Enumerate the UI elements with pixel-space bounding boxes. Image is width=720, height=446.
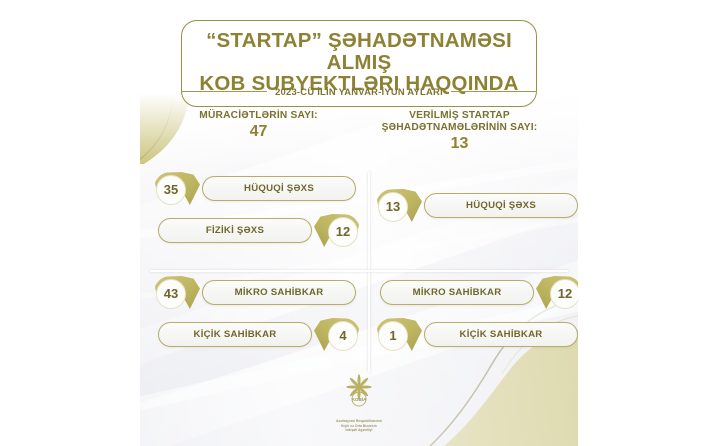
infographic-poster: “STARTAP” ŞƏHADƏTNAMƏSI ALMIŞ KOB SUBYEK… bbox=[140, 0, 578, 446]
badge-13: 13 bbox=[376, 189, 422, 222]
sunburst-icon: KOBİA bbox=[339, 372, 379, 412]
logo-caption: Azərbaycan Respublikasının Kiçik və Orta… bbox=[317, 419, 401, 433]
stat-certificates: VERİLMİŞ STARTAP ŞƏHADƏTNAMƏLƏRİNİN SAYI… bbox=[359, 110, 560, 164]
pill-text: KİÇİK SAHİBKAR bbox=[194, 329, 277, 340]
quadrant-certificates-legal-form: 13 HÜQUQİ ŞƏXS bbox=[376, 172, 578, 268]
badge-value: 4 bbox=[328, 321, 358, 351]
row-applications-micro[interactable]: 43 MİKRO SAHİBKAR bbox=[154, 276, 360, 309]
kobia-logo: KOBİA Azərbaycan Respublikasının Kiçik v… bbox=[317, 372, 401, 433]
pill-text: MİKRO SAHİBKAR bbox=[235, 287, 324, 298]
subtitle-rule-left bbox=[181, 91, 267, 92]
quadrant-certificates-enterprise-size: MİKRO SAHİBKAR 12 1 KİÇİK SAHİBKAR bbox=[376, 276, 578, 372]
quadrant-applications-enterprise-size: 43 MİKRO SAHİBKAR KİÇİK SAHİBKAR 4 bbox=[154, 276, 360, 372]
svg-text:KOBİA: KOBİA bbox=[352, 396, 367, 402]
pill-label[interactable]: MİKRO SAHİBKAR bbox=[380, 280, 534, 305]
row-certificates-legal-entity[interactable]: 13 HÜQUQİ ŞƏXS bbox=[376, 189, 578, 222]
badge-value: 12 bbox=[550, 279, 578, 309]
badge-1: 1 bbox=[376, 318, 422, 351]
stat-certificates-label-line1: VERİLMİŞ STARTAP bbox=[359, 110, 560, 122]
row-applications-small[interactable]: KİÇİK SAHİBKAR 4 bbox=[154, 318, 360, 351]
row-applications-natural-person[interactable]: FİZİKİ ŞƏXS 12 bbox=[154, 214, 360, 247]
pill-label[interactable]: HÜQUQİ ŞƏXS bbox=[202, 176, 356, 201]
grid-divider-horizontal bbox=[150, 270, 568, 272]
grid-divider-vertical bbox=[368, 172, 370, 372]
badge-value: 43 bbox=[156, 279, 186, 309]
badge-value: 35 bbox=[156, 175, 186, 205]
screenshot-canvas: “STARTAP” ŞƏHADƏTNAMƏSI ALMIŞ KOB SUBYEK… bbox=[0, 0, 720, 446]
stat-certificates-label: VERİLMİŞ STARTAP ŞƏHADƏTNAMƏLƏRİNİN SAYI… bbox=[359, 110, 560, 134]
badge-value: 1 bbox=[378, 321, 408, 351]
logo-caption-line3: İnkişafı Agəntliyi bbox=[317, 428, 401, 433]
title-line-1: “STARTAP” ŞƏHADƏTNAMƏSI ALMIŞ bbox=[192, 30, 526, 73]
stat-applications-value: 47 bbox=[158, 124, 359, 140]
pill-text: KİÇİK SAHİBKAR bbox=[460, 329, 543, 340]
stat-applications-label: MÜRACİƏTLƏRİN SAYI: bbox=[158, 110, 359, 122]
badge-4: 4 bbox=[314, 318, 360, 351]
row-certificates-micro[interactable]: MİKRO SAHİBKAR 12 bbox=[376, 276, 578, 309]
row-applications-legal-entity[interactable]: 35 HÜQUQİ ŞƏXS bbox=[154, 172, 360, 205]
row-certificates-small[interactable]: 1 KİÇİK SAHİBKAR bbox=[376, 318, 578, 351]
pill-text: HÜQUQİ ŞƏXS bbox=[466, 200, 536, 211]
pill-text: MİKRO SAHİBKAR bbox=[413, 287, 502, 298]
stat-certificates-label-line2: ŞƏHADƏTNAMƏLƏRİNİN SAYI: bbox=[359, 122, 560, 134]
pill-label[interactable]: KİÇİK SAHİBKAR bbox=[424, 322, 578, 347]
summary-stats: MÜRACİƏTLƏRİN SAYI: 47 VERİLMİŞ STARTAP … bbox=[158, 110, 560, 164]
breakdown-grid: 35 HÜQUQİ ŞƏXS FİZİKİ ŞƏXS 12 bbox=[150, 172, 568, 372]
pill-label[interactable]: FİZİKİ ŞƏXS bbox=[158, 218, 312, 243]
stat-applications: MÜRACİƏTLƏRİN SAYI: 47 bbox=[158, 110, 359, 164]
subtitle-rule-right bbox=[451, 91, 537, 92]
subtitle-row: 2023-CÜ İLİN YANVAR-İYUN AYLARI bbox=[181, 86, 537, 97]
pill-label[interactable]: HÜQUQİ ŞƏXS bbox=[424, 193, 578, 218]
badge-43: 43 bbox=[154, 276, 200, 309]
pill-text: HÜQUQİ ŞƏXS bbox=[244, 183, 314, 194]
subtitle-period: 2023-CÜ İLİN YANVAR-İYUN AYLARI bbox=[275, 86, 443, 97]
quadrant-applications-legal-form: 35 HÜQUQİ ŞƏXS FİZİKİ ŞƏXS 12 bbox=[154, 172, 360, 268]
pill-label[interactable]: MİKRO SAHİBKAR bbox=[202, 280, 356, 305]
pill-text: FİZİKİ ŞƏXS bbox=[206, 225, 264, 236]
badge-35: 35 bbox=[154, 172, 200, 205]
badge-12b: 12 bbox=[536, 276, 578, 309]
badge-value: 13 bbox=[378, 192, 408, 222]
badge-12: 12 bbox=[314, 214, 360, 247]
badge-value: 12 bbox=[328, 217, 358, 247]
stat-certificates-value: 13 bbox=[359, 136, 560, 152]
pill-label[interactable]: KİÇİK SAHİBKAR bbox=[158, 322, 312, 347]
